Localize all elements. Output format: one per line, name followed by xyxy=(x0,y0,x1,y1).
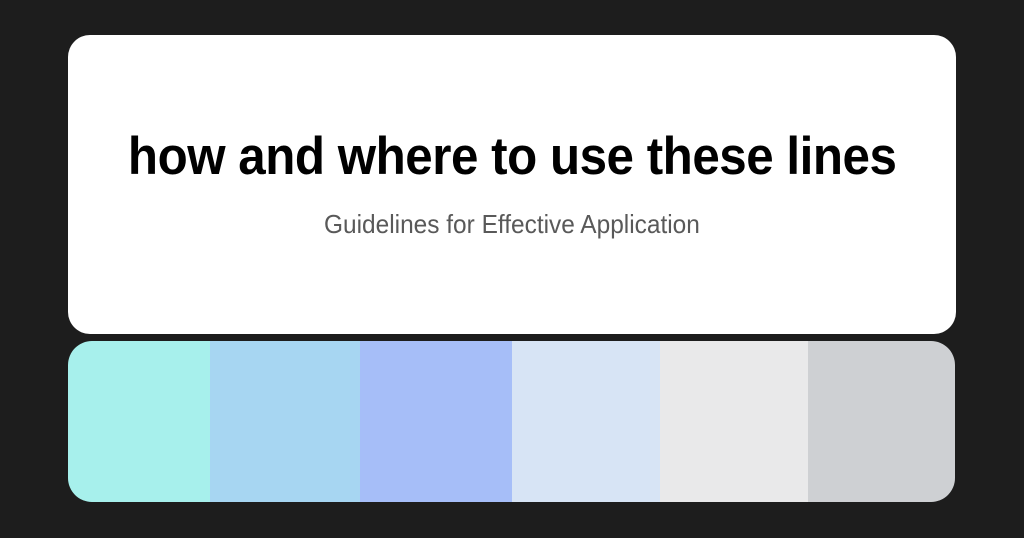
presentation-slide: how and where to use these lines Guideli… xyxy=(0,0,1024,538)
palette-swatch-periwinkle xyxy=(360,341,512,502)
palette-swatch-pale-blue xyxy=(512,341,660,502)
page-subtitle: Guidelines for Effective Application xyxy=(324,210,700,240)
palette-swatch-light-gray xyxy=(808,341,955,502)
color-palette-strip xyxy=(68,341,955,502)
palette-swatch-sky-blue xyxy=(210,341,360,502)
page-title: how and where to use these lines xyxy=(128,129,896,184)
palette-swatch-aqua xyxy=(68,341,210,502)
palette-swatch-off-white xyxy=(660,341,808,502)
title-card: how and where to use these lines Guideli… xyxy=(68,35,956,334)
